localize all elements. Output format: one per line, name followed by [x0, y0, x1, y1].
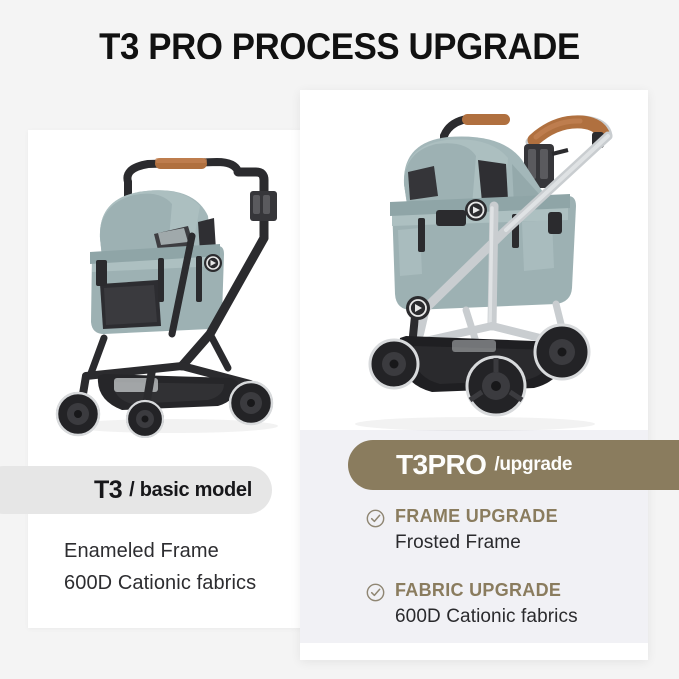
feature-title: FRAME UPGRADE [395, 506, 558, 527]
wheel [56, 392, 100, 436]
stroller-basic-image [42, 138, 304, 438]
wheel [369, 339, 419, 389]
leather-grip [462, 114, 510, 125]
wheel [466, 356, 526, 416]
right-feature-list: FRAME UPGRADE Frosted Frame FABRIC UPGRA… [366, 506, 646, 654]
comparison-infographic: T3 PRO PROCESS UPGRADE [0, 0, 679, 679]
cup-holder-icon [250, 191, 277, 221]
wheel [229, 381, 273, 425]
spec-line: 600D Cationic fabrics [64, 567, 304, 599]
wheel [126, 400, 164, 438]
page-title: T3 PRO PROCESS UPGRADE [20, 26, 658, 68]
left-model-desc: / basic model [129, 479, 252, 502]
wheel [534, 324, 590, 380]
left-model-code: T3 [94, 476, 122, 505]
right-model-desc: /upgrade [494, 454, 572, 476]
right-model-badge: T3PRO /upgrade [348, 440, 679, 490]
left-model-badge: T3 / basic model [0, 466, 272, 514]
feature-detail: Frosted Frame [395, 530, 558, 556]
right-model-code: T3PRO [396, 449, 486, 481]
spec-line: Enameled Frame [64, 535, 304, 567]
feature-item: FRAME UPGRADE Frosted Frame [366, 506, 646, 556]
check-circle-icon [366, 509, 385, 528]
feature-item: FABRIC UPGRADE 600D Cationic fabrics [366, 580, 646, 630]
stroller-pro-image [316, 96, 634, 436]
check-circle-icon [366, 583, 385, 602]
left-spec-list: Enameled Frame 600D Cationic fabrics [64, 535, 304, 599]
feature-title: FABRIC UPGRADE [395, 580, 578, 601]
feature-detail: 600D Cationic fabrics [395, 604, 578, 630]
